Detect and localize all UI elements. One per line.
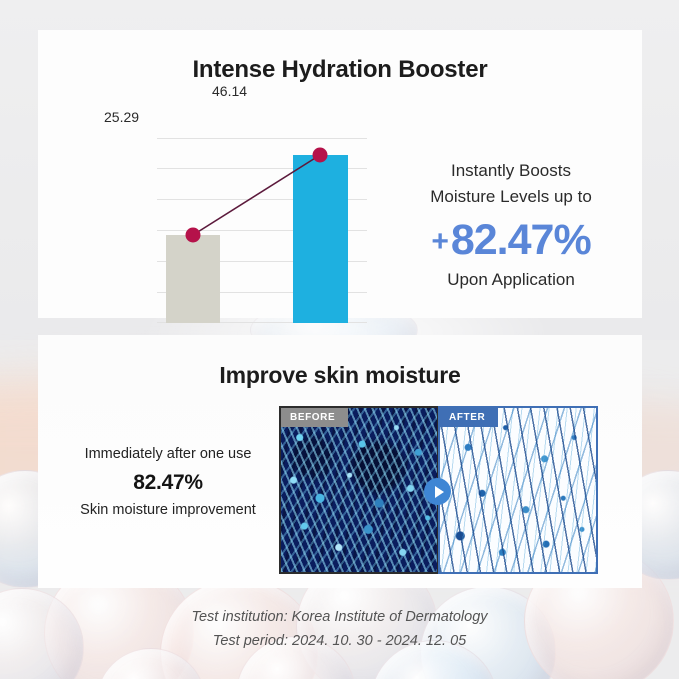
claim-value: 82.47% [451, 216, 591, 264]
sample-image-before: BEFORE [279, 406, 439, 574]
claim-footnote: Upon Application [398, 270, 624, 290]
claim-line-2: Moisture Levels up to [398, 184, 624, 210]
triangle-glyph [435, 486, 444, 498]
claim-line-1: Instantly Boosts [398, 158, 624, 184]
moisture-value: 82.47% [58, 471, 278, 495]
footer-credits: Test institution: Korea Institute of Der… [0, 606, 679, 654]
badge-after: AFTER [440, 408, 498, 427]
section-title: Improve skin moisture [38, 335, 642, 389]
bar-value-before: 25.29 [104, 109, 139, 125]
trend-line [157, 138, 367, 323]
plus-sign: + [431, 225, 448, 258]
corneometry-texture-before [281, 408, 437, 572]
moisture-summary: Immediately after one use 82.47% Skin mo… [58, 446, 278, 518]
page-title: Intense Hydration Booster [38, 30, 642, 84]
badge-before: BEFORE [281, 408, 348, 427]
bar-value-after: 46.14 [212, 83, 247, 99]
moisture-line-2: Skin moisture improvement [58, 502, 278, 518]
corneometry-texture-after [440, 408, 596, 572]
test-institution: Test institution: Korea Institute of Der… [0, 606, 679, 630]
moisture-line-1: Immediately after one use [58, 446, 278, 462]
play-arrow-right-icon [424, 478, 451, 505]
sample-image-after: AFTER [438, 406, 598, 574]
hydration-booster-card: Intense Hydration Booster 25.29 46.14 In… [38, 30, 642, 318]
hydration-bar-chart: 25.29 46.14 [120, 105, 385, 305]
test-period: Test period: 2024. 10. 30 - 2024. 12. 05 [0, 630, 679, 654]
claim-block: Instantly Boosts Moisture Levels up to +… [398, 158, 624, 290]
chart-plot-area [157, 138, 367, 323]
claim-value-row: +82.47% [398, 213, 624, 268]
